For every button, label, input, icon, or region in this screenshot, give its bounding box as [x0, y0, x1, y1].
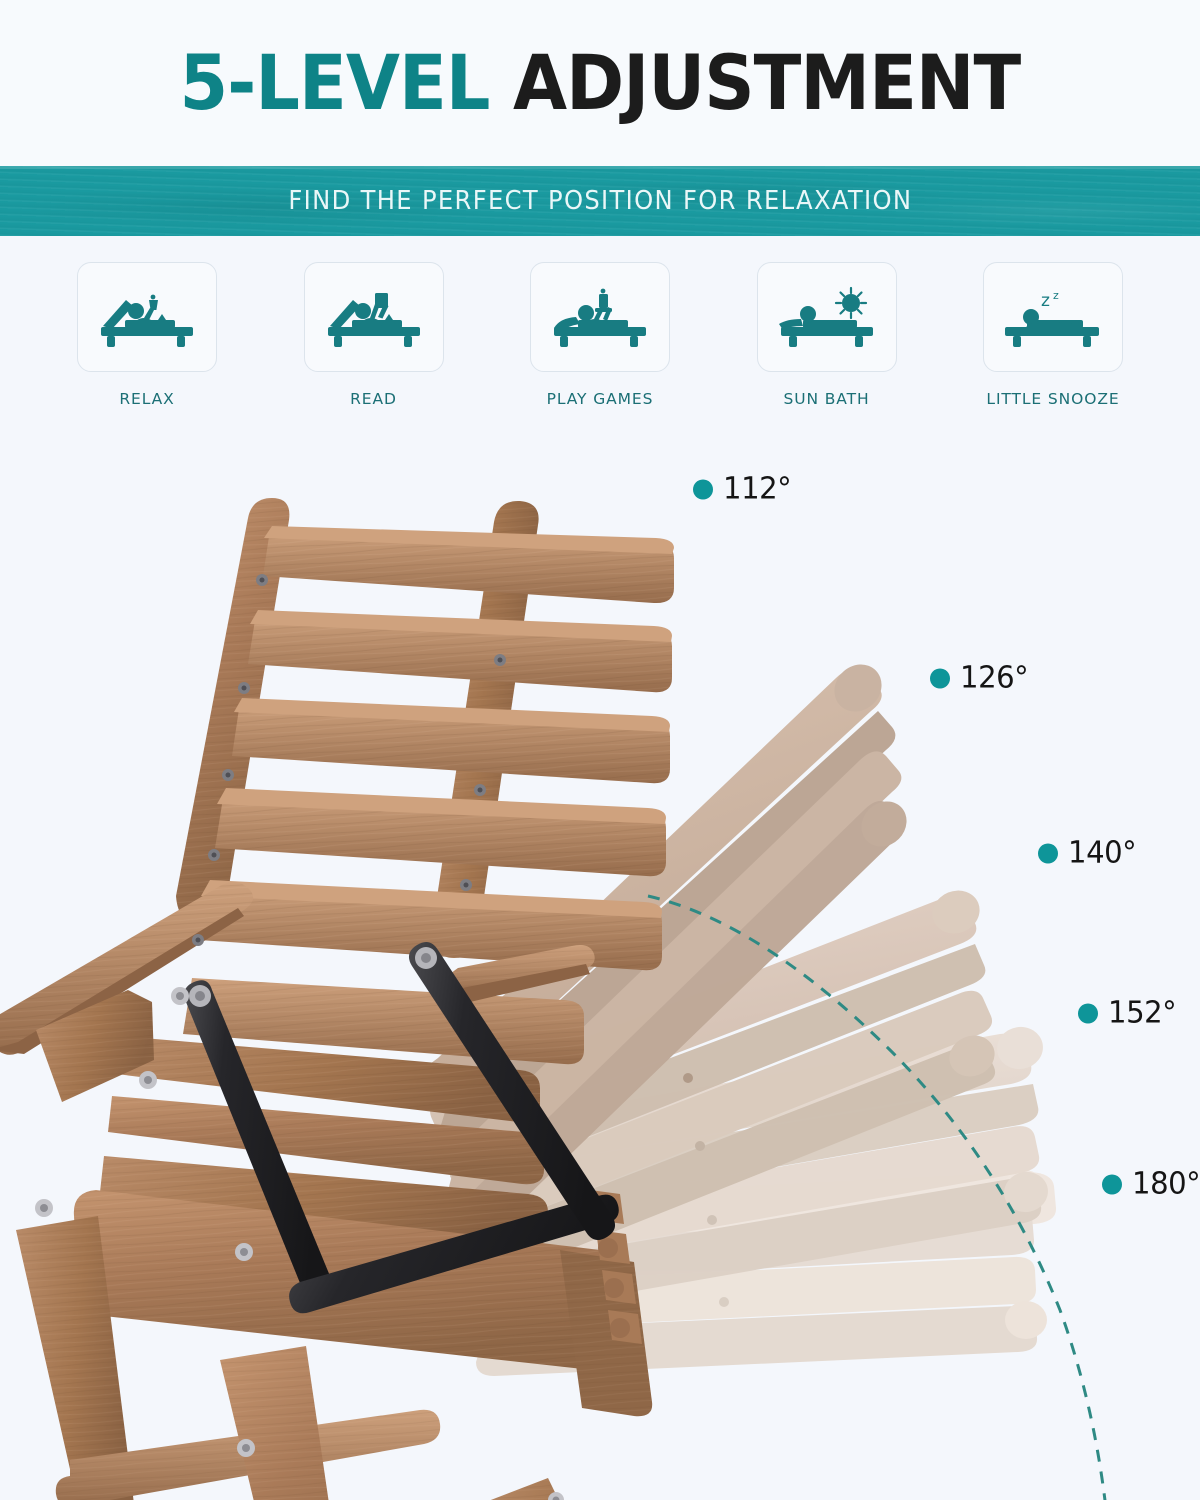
product-illustration: [0, 430, 1200, 1500]
subtitle-band: FIND THE PERFECT POSITION FOR RELAXATION: [0, 166, 1200, 236]
feature-item-relax[interactable]: RELAX: [72, 262, 222, 412]
z-glyph-small: z: [1053, 289, 1059, 302]
person-reading-book-icon: [322, 286, 426, 348]
feature-icon-box: [77, 262, 217, 372]
feature-label: LITTLE SNOOZE: [986, 390, 1119, 408]
feature-label: RELAX: [119, 390, 174, 408]
page-title: 5-LEVEL ADJUSTMENT: [180, 45, 1021, 121]
subtitle-text: FIND THE PERFECT POSITION FOR RELAXATION: [288, 186, 912, 216]
chaise-lounge-svg: [0, 430, 1200, 1500]
feature-icon-box: z z: [983, 262, 1123, 372]
feature-label: PLAY GAMES: [547, 390, 654, 408]
feature-label: READ: [350, 390, 397, 408]
feature-icon-box: [530, 262, 670, 372]
feature-item-read[interactable]: READ: [299, 262, 449, 412]
feature-icon-row: RELAX: [0, 262, 1200, 412]
feature-item-sun-bath[interactable]: SUN BATH: [752, 262, 902, 412]
person-reclining-with-drink-icon: [95, 286, 199, 348]
person-sunbathing-sun-icon: [775, 286, 879, 348]
z-glyph-large: z: [1041, 291, 1050, 311]
feature-label: SUN BATH: [783, 390, 869, 408]
feature-item-little-snooze[interactable]: z z LITTLE SNOOZE: [978, 262, 1128, 412]
feature-icon-box: [304, 262, 444, 372]
feature-item-play-games[interactable]: PLAY GAMES: [525, 262, 675, 412]
feature-icon-box: [757, 262, 897, 372]
person-with-tablet-icon: [548, 286, 652, 348]
title-rest-text: ADJUSTMENT: [490, 38, 1021, 127]
title-accent-text: 5-LEVEL: [180, 38, 490, 127]
person-sleeping-zz-icon: z z: [1001, 286, 1105, 348]
header-title-bar: 5-LEVEL ADJUSTMENT: [0, 0, 1200, 166]
